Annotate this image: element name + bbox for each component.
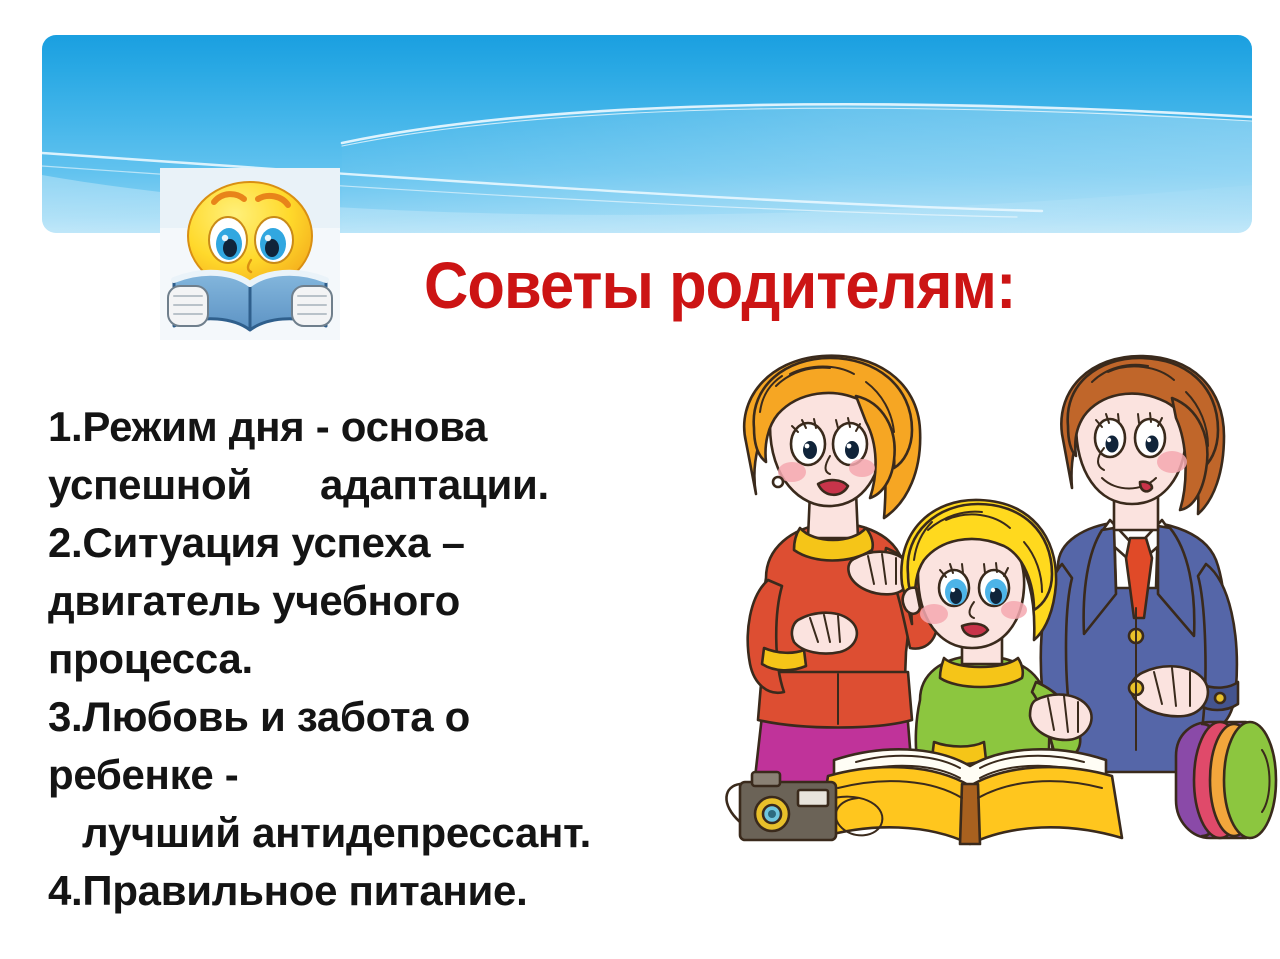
tip-line-2: успешной адаптации.: [48, 456, 728, 514]
striped-cylinder-ball: [1176, 722, 1276, 838]
smiley-reading-book-icon: [152, 168, 348, 340]
tip-line-1: 1.Режим дня - основа: [48, 398, 728, 456]
tip-line-8: лучший антидепрессант.: [48, 804, 728, 862]
tip-line-3: 2.Ситуация успеха –: [48, 514, 728, 572]
tip-line-6: 3.Любовь и забота о: [48, 688, 728, 746]
tip-line-9: 4.Правильное питание.: [48, 862, 728, 920]
slide-canvas: Советы родителям: 1.Режим дня - основа у…: [0, 0, 1280, 959]
tip-line-7: ребенке -: [48, 746, 728, 804]
tips-list: 1.Режим дня - основа успешной адаптации.…: [48, 398, 728, 920]
tip-line-5: процесса.: [48, 630, 728, 688]
family-with-book-illustration: .ol { stroke:#3a2a1c; stroke-width:2.6; …: [706, 352, 1280, 852]
tip-line-4: двигатель учебного: [48, 572, 728, 630]
page-title: Советы родителям:: [424, 252, 1016, 318]
